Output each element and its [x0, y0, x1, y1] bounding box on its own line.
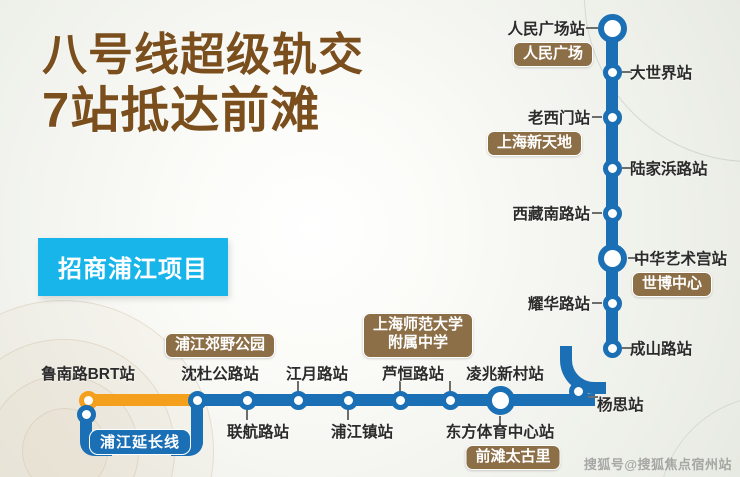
station-dot-dashijie[interactable]: [603, 63, 622, 82]
headline-line-1: 八号线超级轨交: [42, 32, 364, 78]
station-dot-yangsi[interactable]: [569, 382, 588, 401]
decor-ring-3: [0, 375, 139, 477]
station-dot-pujiang-town[interactable]: [339, 391, 358, 410]
station-label-laoximen: 老西门站: [528, 106, 590, 128]
station-dot-lianhang[interactable]: [238, 391, 257, 410]
tick-renmin-square: [586, 27, 598, 29]
station-label-lingzhao: 凌兆新村站: [466, 362, 544, 384]
poi-badge-shnu-line-1: 上海师范大学: [373, 316, 463, 334]
tick-laoximen: [592, 116, 602, 118]
poi-badge-taikoo-li[interactable]: 前滩太古里: [465, 445, 560, 470]
station-label-chengshan: 成山路站: [630, 337, 692, 359]
tick-lingzhao: [449, 381, 451, 391]
station-label-renmin-square: 人民广场站: [507, 17, 585, 39]
station-dot-jiangyue[interactable]: [289, 391, 308, 410]
station-label-xizang-south: 西藏南路站: [512, 202, 590, 224]
transit-map-poster: 八号线超级轨交 7站抵达前滩 招商浦江项目 人民广场站 人民广场 大世界站 老西…: [0, 0, 740, 477]
station-dot-luheng[interactable]: [391, 391, 410, 410]
station-label-pujiang-town: 浦江镇站: [331, 420, 393, 442]
station-label-lianhang: 联航路站: [227, 420, 289, 442]
station-label-jiangyue: 江月路站: [286, 362, 348, 384]
station-dot-branch-terminus[interactable]: [77, 405, 96, 424]
station-label-lunan-brt: 鲁南路BRT站: [41, 362, 135, 384]
headline-line-2: 7站抵达前滩: [42, 87, 364, 137]
tick-pujiang-town: [347, 410, 349, 420]
station-dot-chengshan[interactable]: [603, 339, 622, 358]
station-dot-yaohua[interactable]: [603, 294, 622, 313]
poi-badge-expo-center[interactable]: 世博中心: [632, 272, 712, 297]
station-label-shendu: 沈杜公路站: [181, 362, 259, 384]
station-label-luheng: 芦恒路站: [382, 362, 444, 384]
station-dot-renmin-square[interactable]: [598, 14, 627, 43]
poi-badge-xintiandi[interactable]: 上海新天地: [487, 131, 582, 156]
station-label-china-art-museum: 中华艺术宫站: [634, 247, 727, 269]
station-label-dashijie: 大世界站: [630, 61, 692, 83]
tick-lianhang: [246, 410, 248, 420]
poi-badge-shnu-affiliated-school[interactable]: 上海师范大学 附属中学: [363, 313, 473, 358]
station-dot-laoximen[interactable]: [603, 108, 622, 127]
station-label-yangsi: 杨思站: [597, 393, 644, 415]
station-dot-lingzhao[interactable]: [441, 391, 460, 410]
station-label-oriental-sports-center: 东方体育中心站: [446, 420, 555, 442]
station-dot-oriental-sports-center[interactable]: [486, 386, 515, 415]
project-badge[interactable]: 招商浦江项目: [38, 238, 228, 296]
station-dot-china-art-museum[interactable]: [598, 244, 627, 273]
headline: 八号线超级轨交 7站抵达前滩: [42, 32, 364, 137]
branch-line-label[interactable]: 浦江延长线: [89, 429, 191, 455]
poi-badge-shnu-line-2: 附属中学: [373, 334, 463, 352]
tick-yaohua: [592, 302, 602, 304]
brt-line-segment: [86, 394, 202, 406]
poi-badge-renmin-square[interactable]: 人民广场: [513, 42, 593, 67]
station-dot-xizang-south[interactable]: [603, 204, 622, 223]
station-dot-lujiabang[interactable]: [603, 159, 622, 178]
poi-badge-country-park[interactable]: 浦江郊野公园: [165, 333, 275, 358]
station-label-lujiabang: 陆家浜路站: [630, 157, 708, 179]
watermark: 搜狐号@搜狐焦点宿州站: [584, 454, 732, 473]
station-label-yaohua: 耀华路站: [528, 292, 590, 314]
tick-xizang-south: [592, 212, 602, 214]
station-dot-shendu[interactable]: [188, 391, 207, 410]
